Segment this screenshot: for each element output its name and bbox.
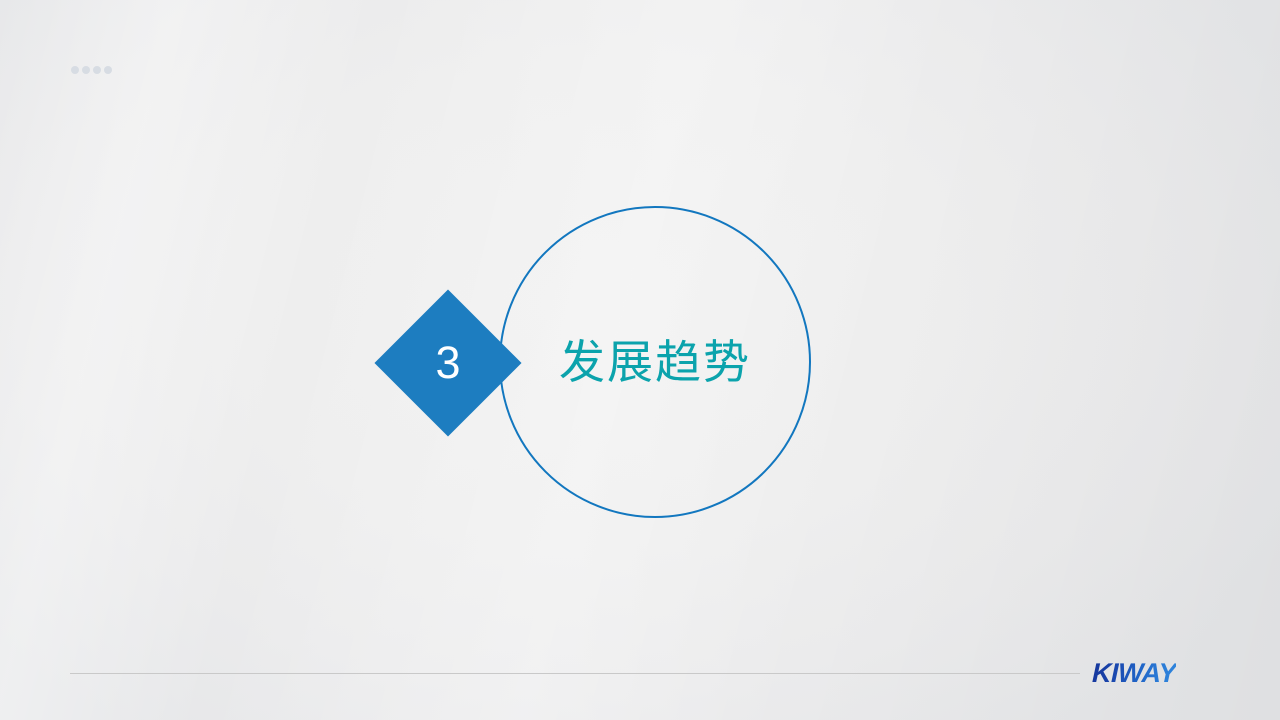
decorative-dot-icon xyxy=(82,66,90,74)
section-number: 3 xyxy=(396,311,500,415)
footer-divider xyxy=(70,673,1080,674)
section-graphic: 3 发展趋势 xyxy=(0,0,1280,720)
decorative-dots-group xyxy=(71,66,112,74)
section-title: 发展趋势 xyxy=(503,330,807,394)
decorative-dot-icon xyxy=(71,66,79,74)
decorative-dot-icon xyxy=(104,66,112,74)
decorative-dot-icon xyxy=(93,66,101,74)
section-divider-slide: 3 发展趋势 KIWAY xyxy=(0,0,1280,720)
kiway-logo: KIWAY xyxy=(1092,660,1176,687)
